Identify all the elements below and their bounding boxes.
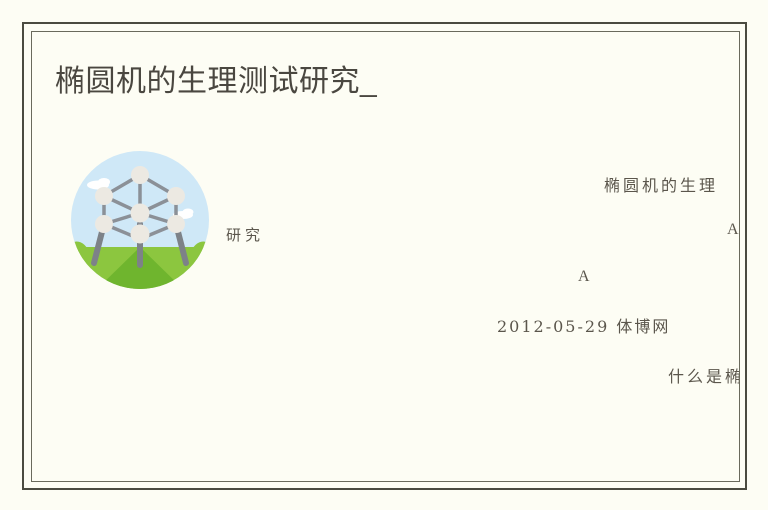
inner-border-frame-overlay bbox=[31, 31, 740, 482]
page-root: 椭圆机的生理测试研究_ bbox=[0, 0, 768, 510]
